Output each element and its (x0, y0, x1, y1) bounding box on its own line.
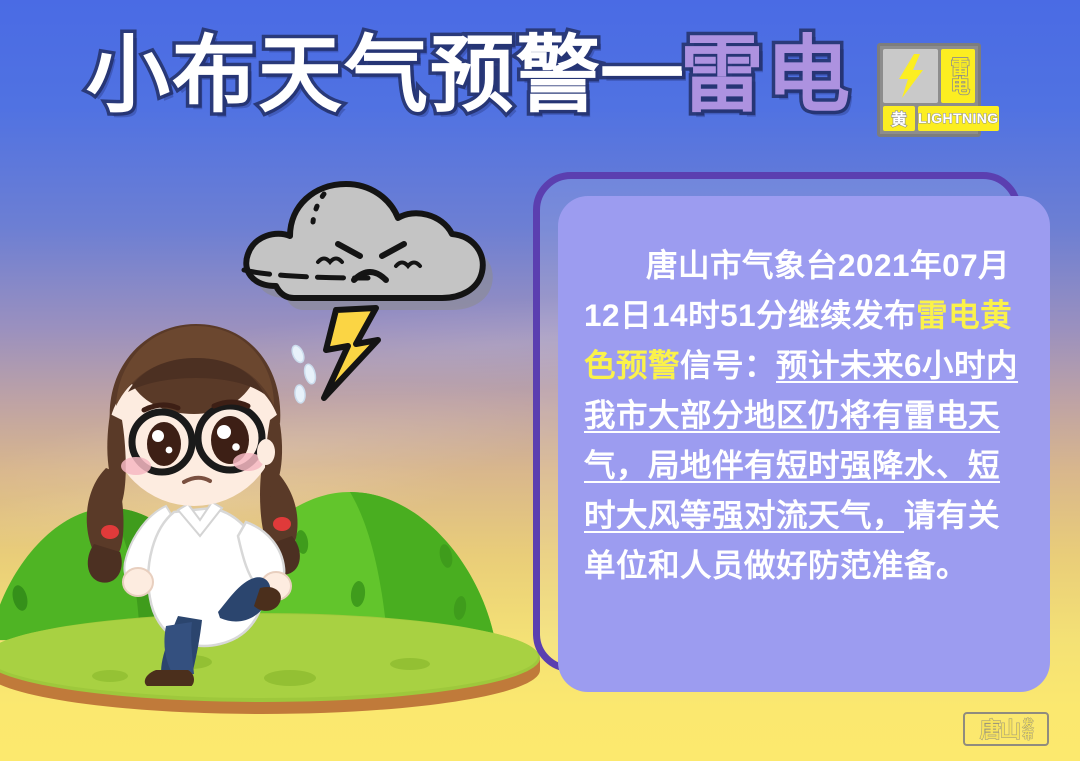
title-separator-dash: 一 (600, 33, 686, 117)
warning-text: 唐山市气象台2021年07月12日14时51分继续发布雷电黄色预警信号：预计未来… (584, 240, 1024, 590)
lightning-bolt-icon (896, 54, 926, 98)
title-subject: 雷电 (680, 33, 852, 117)
warning-panel: 唐山市气象台2021年07月12日14时51分继续发布雷电黄色预警信号：预计未来… (558, 196, 1050, 692)
publisher-watermark: 唐山 发布 (963, 712, 1049, 746)
warning-text-seg-2: 信号： (680, 347, 776, 383)
watermark-main: 唐山 (980, 714, 1020, 744)
page-title: 小布天气预警 (86, 33, 602, 117)
poster-canvas: 小布天气预警 一 雷电 雷电 黄 LIGHTNING (0, 0, 1080, 761)
badge-top-row: 雷电 (883, 49, 975, 103)
badge-level-label: 黄 (883, 106, 915, 131)
watermark-sub: 发布 (1021, 718, 1032, 740)
warning-level-badge: 雷电 黄 LIGHTNING (877, 43, 981, 137)
badge-bolt-container (883, 49, 938, 103)
character-illustration (70, 296, 360, 686)
badge-english-label: LIGHTNING (918, 106, 999, 131)
badge-type-label: 雷电 (941, 49, 975, 103)
badge-bottom-row: 黄 LIGHTNING (883, 106, 975, 131)
